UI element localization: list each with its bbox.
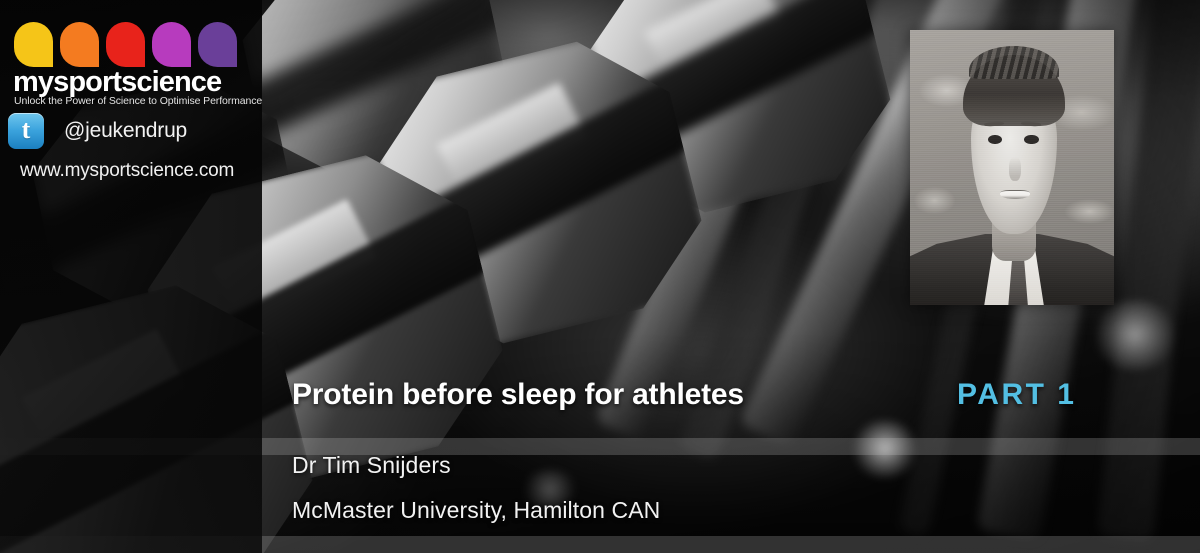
presentation-slide: mysportscience Unlock the Power of Scien… — [0, 0, 1200, 553]
logo-dot-yellow — [14, 22, 53, 67]
twitter-handle-row[interactable]: t @jeukendrup — [8, 113, 187, 149]
branding-panel: mysportscience Unlock the Power of Scien… — [0, 0, 262, 553]
slide-title: Protein before sleep for athletes — [292, 378, 744, 412]
logo-dot-red — [106, 22, 145, 67]
website-url-label[interactable]: www.mysportscience.com — [20, 160, 234, 182]
presenter-name: Dr Tim Snijders — [292, 452, 451, 479]
logo-dot-magenta — [152, 22, 191, 67]
presenter-affiliation: McMaster University, Hamilton CAN — [292, 497, 660, 524]
brand-wordmark: mysportscience — [13, 68, 221, 97]
twitter-bird-icon[interactable]: t — [8, 113, 44, 149]
mysportscience-logo-mark — [14, 22, 237, 67]
logo-dot-orange — [60, 22, 99, 67]
twitter-handle-label: @jeukendrup — [64, 119, 187, 143]
portrait-grain-overlay — [910, 30, 1114, 305]
presenter-portrait-photo — [910, 30, 1114, 305]
part-badge-label: PART 1 — [957, 378, 1076, 412]
brand-tagline: Unlock the Power of Science to Optimise … — [14, 95, 262, 107]
logo-dot-purple — [198, 22, 237, 67]
